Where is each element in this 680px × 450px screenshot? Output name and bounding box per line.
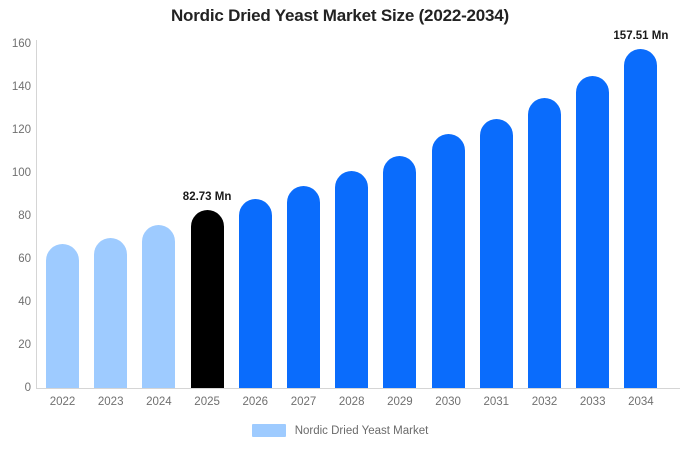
legend-swatch [252, 424, 286, 437]
y-axis-tick: 60 [0, 253, 31, 265]
bar-2023[interactable] [94, 238, 127, 389]
bar-column[interactable] [383, 44, 416, 388]
bar-2032[interactable] [528, 98, 561, 388]
bar-column[interactable] [287, 44, 320, 388]
chart-legend[interactable]: Nordic Dried Yeast Market [0, 424, 680, 437]
x-axis-tick-2026: 2026 [239, 396, 272, 408]
x-axis-tick-2028: 2028 [335, 396, 368, 408]
x-axis-tick-2025: 2025 [191, 396, 224, 408]
x-axis-tick-2031: 2031 [480, 396, 513, 408]
bar-2024[interactable] [142, 225, 175, 388]
bar-chart: Nordic Dried Yeast Market Size (2022-203… [0, 0, 680, 450]
bar-column[interactable] [239, 44, 272, 388]
x-axis-tick-2034: 2034 [624, 396, 657, 408]
bar-column[interactable] [94, 44, 127, 388]
x-axis-tick-2027: 2027 [287, 396, 320, 408]
bar-column[interactable] [335, 44, 368, 388]
bar-column[interactable] [528, 44, 561, 388]
bar-2027[interactable] [287, 186, 320, 388]
x-axis-tick-2032: 2032 [528, 396, 561, 408]
bar-column[interactable] [480, 44, 513, 388]
y-axis-tick: 80 [0, 210, 31, 222]
bar-2026[interactable] [239, 199, 272, 388]
y-axis-tick: 20 [0, 339, 31, 351]
x-axis-tick-2030: 2030 [432, 396, 465, 408]
x-axis-tick-2022: 2022 [46, 396, 79, 408]
bar-column[interactable]: 157.51 Mn [624, 44, 657, 388]
y-axis-tick: 40 [0, 296, 31, 308]
bar-column[interactable] [142, 44, 175, 388]
bar-2033[interactable] [576, 76, 609, 388]
bar-2034[interactable] [624, 49, 657, 388]
x-axis-tick-2029: 2029 [383, 396, 416, 408]
bar-2031[interactable] [480, 119, 513, 388]
bar-2028[interactable] [335, 171, 368, 388]
bar-value-label: 157.51 Mn [613, 30, 668, 42]
bar-value-label: 82.73 Mn [183, 191, 232, 203]
x-axis-line [36, 388, 680, 389]
y-axis-tick: 0 [0, 382, 31, 394]
y-axis-tick: 100 [0, 167, 31, 179]
bar-column[interactable]: 82.73 Mn [191, 44, 224, 388]
legend-label: Nordic Dried Yeast Market [295, 425, 429, 437]
x-axis-tick-2023: 2023 [94, 396, 127, 408]
bar-2030[interactable] [432, 134, 465, 388]
y-axis-tick: 140 [0, 81, 31, 93]
bar-column[interactable] [576, 44, 609, 388]
y-axis-tick: 160 [0, 38, 31, 50]
bar-column[interactable] [432, 44, 465, 388]
chart-title: Nordic Dried Yeast Market Size (2022-203… [0, 6, 680, 26]
y-axis-tick: 120 [0, 124, 31, 136]
x-axis-tick-2024: 2024 [142, 396, 175, 408]
plot-area: 82.73 Mn157.51 Mn [37, 44, 680, 388]
bar-2029[interactable] [383, 156, 416, 388]
bar-2025[interactable] [191, 210, 224, 388]
bar-column[interactable] [46, 44, 79, 388]
y-axis-tick-labels: 020406080100120140160 [0, 44, 31, 388]
bar-2022[interactable] [46, 244, 79, 388]
x-axis-tick-2033: 2033 [576, 396, 609, 408]
